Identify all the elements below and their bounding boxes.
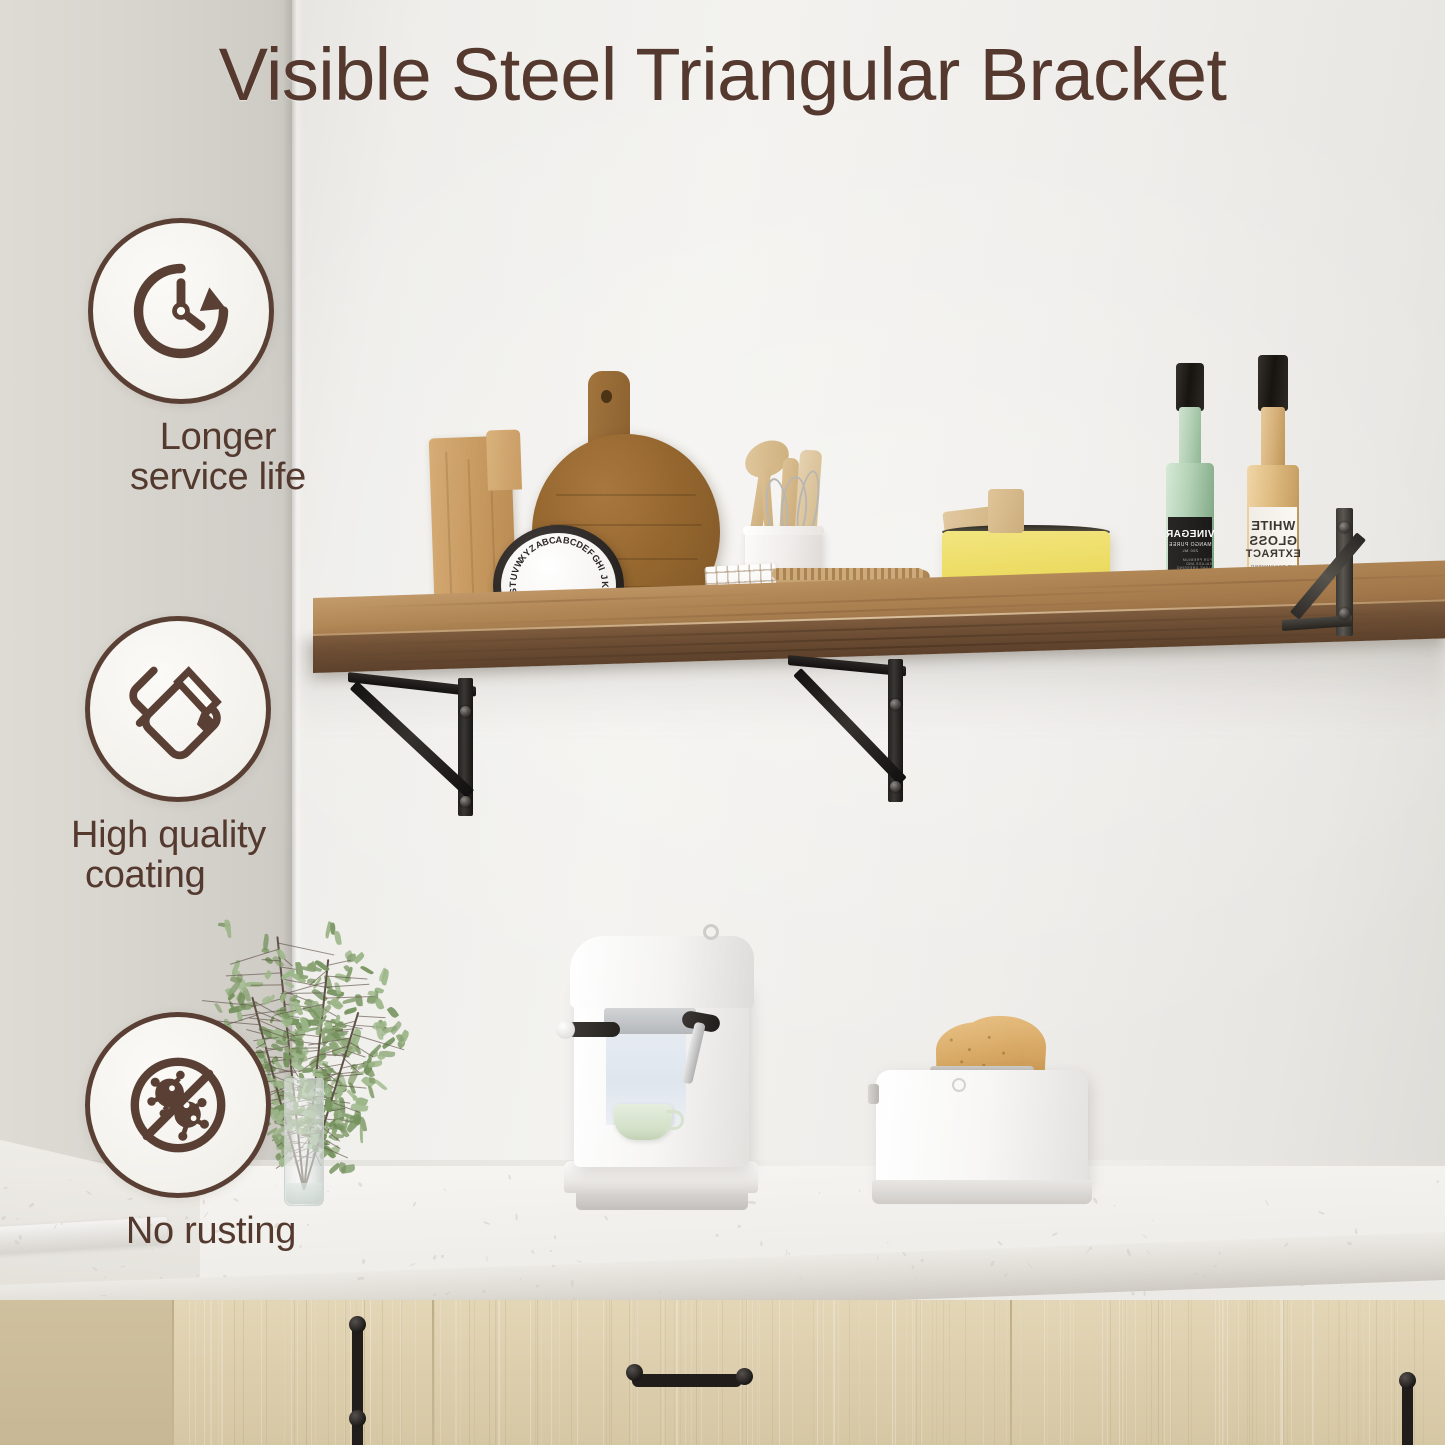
toaster	[866, 1012, 1098, 1217]
espresso-top-knob[interactable]	[703, 924, 719, 940]
feature-badge	[85, 616, 271, 802]
page-title: Visible Steel Triangular Bracket	[0, 38, 1445, 112]
bracket-screw-lower	[890, 781, 901, 792]
espresso-hood	[570, 936, 754, 1008]
triangular-bracket-left	[348, 672, 478, 822]
bracket-diagonal-brace	[350, 681, 475, 798]
feature-label: No rusting	[85, 1211, 345, 1251]
clock-refresh-icon	[122, 252, 240, 370]
feature-label-line-2: coating	[85, 855, 345, 895]
product-marketing-image: ABCDEFGHIJKLABCDEFGHIJKLMNOPQRSTUVWXYZAB…	[0, 0, 1445, 1445]
feature-label-line-2: service life	[88, 457, 348, 497]
feature-label-line-1: High quality	[71, 815, 345, 855]
feature-high-quality-coating: High quality coating	[85, 616, 345, 896]
paint-bucket-brush-icon	[119, 650, 237, 768]
no-germs-prohibited-icon	[118, 1045, 238, 1165]
feature-label-line-1: Longer	[88, 417, 348, 457]
feature-no-rusting: No rusting	[85, 1012, 345, 1251]
toaster-browning-dial[interactable]	[952, 1078, 966, 1092]
espresso-cup	[614, 1104, 672, 1140]
bracket-screw-upper	[460, 706, 471, 717]
feature-label-line-1: No rusting	[77, 1211, 345, 1251]
triangular-bracket-right	[1290, 508, 1400, 638]
bracket-screw-lower	[1339, 608, 1350, 619]
bracket-diagonal-brace	[1290, 532, 1366, 619]
bracket-screw-upper	[890, 699, 901, 710]
feature-badge	[88, 218, 274, 404]
bracket-screw-lower	[460, 796, 471, 807]
feature-longer-service-life: Longer service life	[88, 218, 348, 498]
toaster-body	[876, 1070, 1088, 1188]
feature-label: High quality coating	[85, 815, 345, 896]
toaster-lever[interactable]	[868, 1084, 879, 1104]
portafilter-knob	[556, 1020, 575, 1039]
bracket-screw-upper	[1339, 522, 1350, 533]
toaster-base	[872, 1180, 1092, 1204]
espresso-machine	[556, 918, 766, 1218]
feature-badge	[85, 1012, 271, 1198]
feature-label: Longer service life	[88, 417, 348, 498]
triangular-bracket-center	[788, 655, 910, 803]
